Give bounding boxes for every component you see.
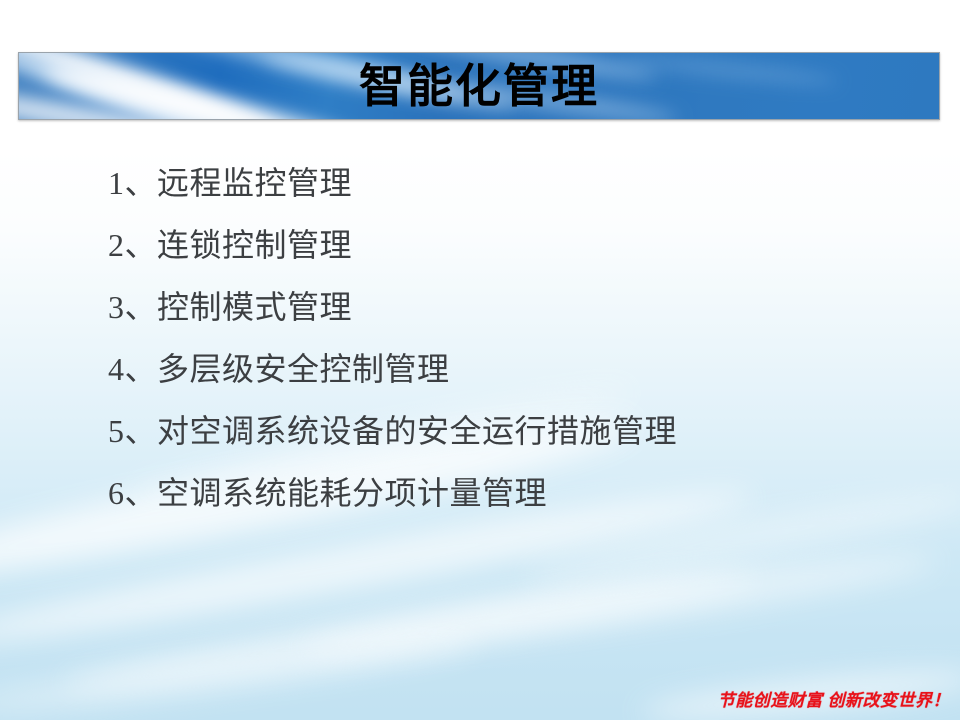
list-item: 4、多层级安全控制管理 bbox=[108, 338, 918, 400]
cloud-wisp bbox=[300, 541, 939, 670]
list-item-number: 1、 bbox=[108, 165, 157, 201]
list-item: 1、远程监控管理 bbox=[108, 152, 918, 214]
slide-title-banner: 智能化管理 bbox=[18, 52, 940, 120]
list-item: 2、连锁控制管理 bbox=[108, 214, 918, 276]
list-item-label: 对空调系统设备的安全运行措施管理 bbox=[157, 413, 677, 449]
list-item: 3、控制模式管理 bbox=[108, 276, 918, 338]
list-item-number: 5、 bbox=[108, 413, 157, 449]
list-item: 6、空调系统能耗分项计量管理 bbox=[108, 462, 918, 524]
list-item: 5、对空调系统设备的安全运行措施管理 bbox=[108, 400, 918, 462]
footer-slogan: 节能创造财富 创新改变世界！ bbox=[700, 686, 950, 711]
list-item-number: 4、 bbox=[108, 351, 157, 387]
list-item-number: 2、 bbox=[108, 227, 157, 263]
list-item-label: 多层级安全控制管理 bbox=[157, 351, 450, 387]
list-item-number: 6、 bbox=[108, 475, 157, 511]
list-item-label: 控制模式管理 bbox=[157, 289, 352, 325]
page-title: 智能化管理 bbox=[19, 53, 939, 120]
presentation-slide: 智能化管理 1、远程监控管理 2、连锁控制管理 3、控制模式管理 4、多层级安全… bbox=[0, 0, 960, 720]
cloud-wisp bbox=[0, 628, 480, 720]
list-item-number: 3、 bbox=[108, 289, 157, 325]
list-item-label: 空调系统能耗分项计量管理 bbox=[157, 475, 547, 511]
bullet-list: 1、远程监控管理 2、连锁控制管理 3、控制模式管理 4、多层级安全控制管理 5… bbox=[108, 152, 918, 524]
list-item-label: 远程监控管理 bbox=[157, 165, 352, 201]
cloud-wisp bbox=[61, 557, 758, 702]
list-item-label: 连锁控制管理 bbox=[157, 227, 352, 263]
